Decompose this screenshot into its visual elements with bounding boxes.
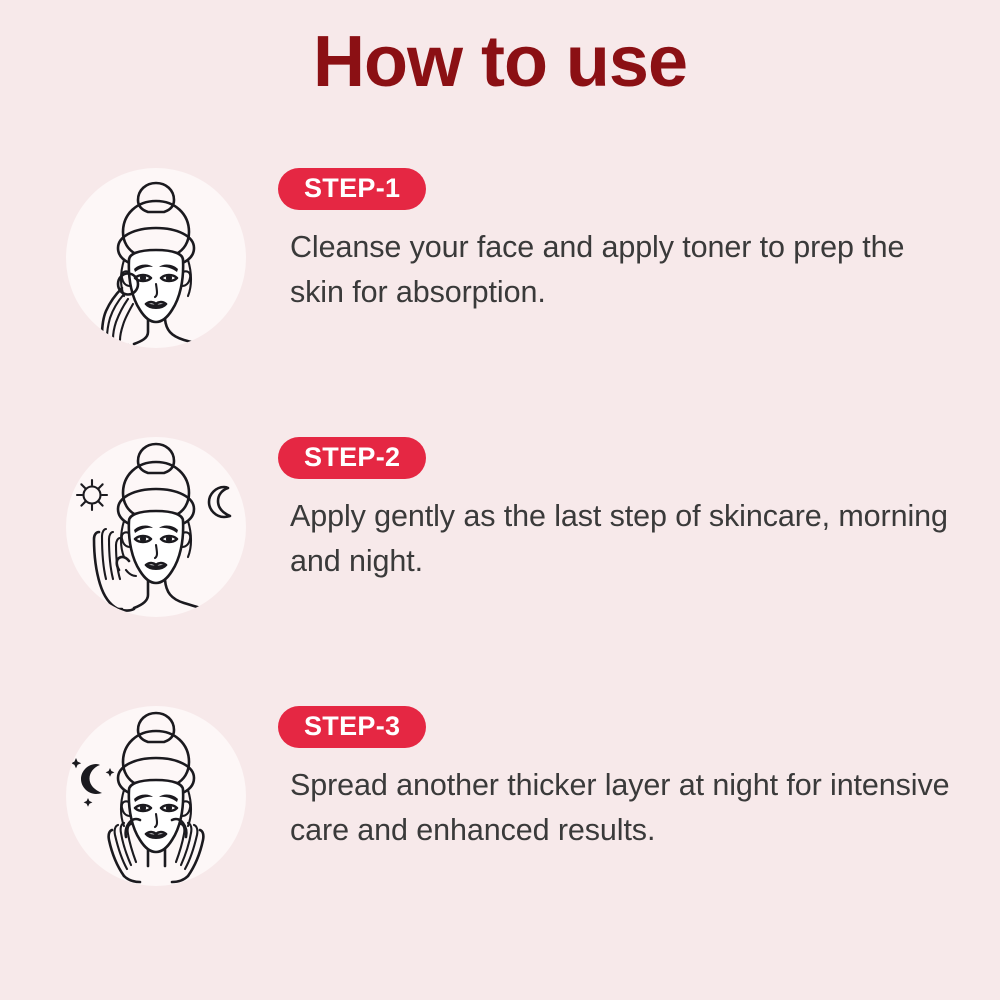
- crescent-moon-with-stars-icon: [71, 758, 115, 807]
- sun-icon: [77, 480, 107, 510]
- page-title: How to use: [0, 26, 1000, 98]
- woman-patting-both-cheeks-at-night-icon: [66, 706, 246, 886]
- step-3-text: Spread another thicker layer at night fo…: [290, 763, 950, 853]
- step-1-text: Cleanse your face and apply toner to pre…: [290, 225, 950, 315]
- woman-cleansing-face-with-cotton-pad-icon: [66, 168, 246, 348]
- step-3-illustration: [66, 706, 246, 886]
- step-2-body: STEP-2 Apply gently as the last step of …: [278, 437, 958, 585]
- step-row: STEP-2 Apply gently as the last step of …: [0, 437, 1000, 637]
- crescent-moon-icon: [209, 487, 230, 517]
- step-1-body: STEP-1 Cleanse your face and apply toner…: [278, 168, 958, 316]
- step-3-body: STEP-3 Spread another thicker layer at n…: [278, 706, 958, 854]
- step-1-illustration: [66, 168, 246, 348]
- how-to-use-infographic: How to use: [0, 0, 1000, 1000]
- step-2-illustration: [66, 437, 246, 617]
- step-row: STEP-3 Spread another thicker layer at n…: [0, 706, 1000, 906]
- step-3-badge: STEP-3: [278, 706, 426, 748]
- step-1-badge: STEP-1: [278, 168, 426, 210]
- woman-applying-cream-day-and-night-icon: [66, 437, 246, 617]
- step-2-badge: STEP-2: [278, 437, 426, 479]
- step-row: STEP-1 Cleanse your face and apply toner…: [0, 168, 1000, 368]
- step-2-text: Apply gently as the last step of skincar…: [290, 494, 950, 584]
